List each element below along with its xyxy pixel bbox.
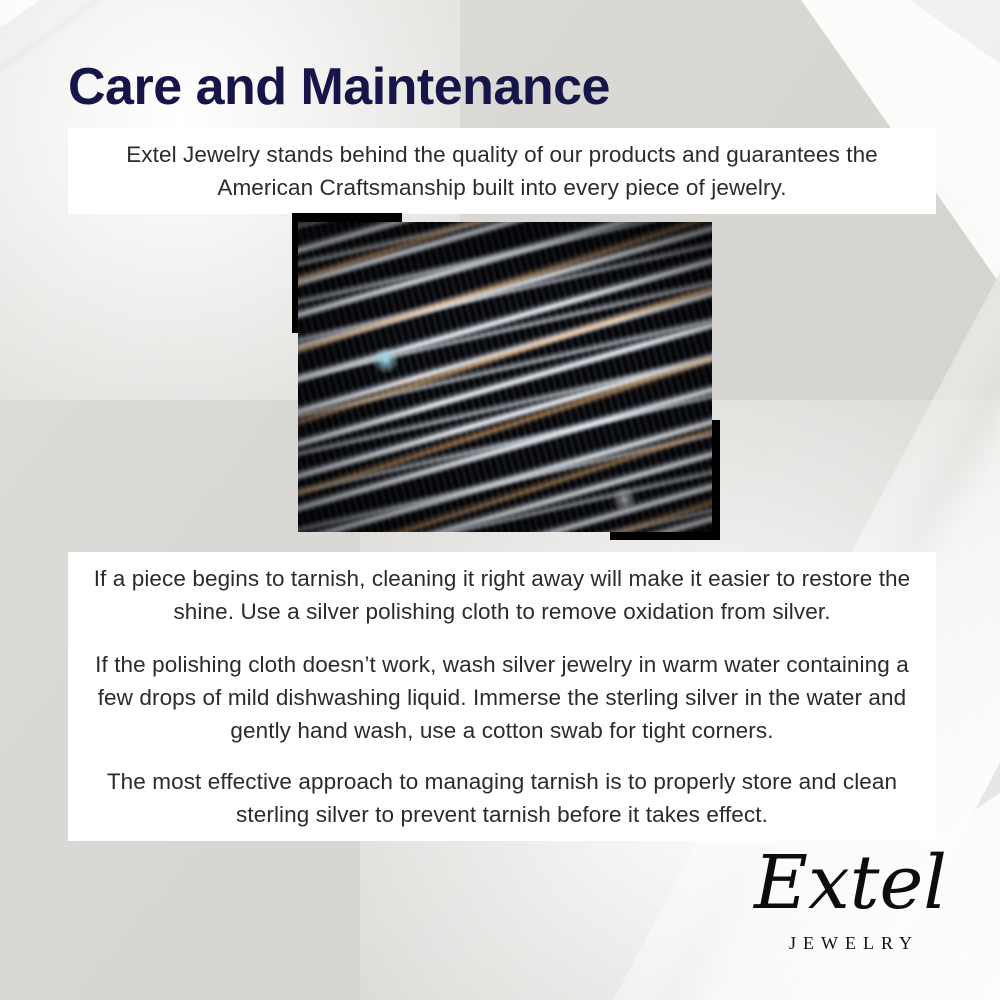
brand-logo: Extel JEWELRY: [748, 845, 953, 960]
body-paragraph-1: If a piece begins to tarnish, cleaning i…: [68, 552, 936, 638]
jewelry-photo-frame: [292, 213, 720, 540]
brand-logo-wordmark: JEWELRY: [748, 933, 953, 954]
body-paragraph-2: If the polishing cloth doesn’t work, was…: [68, 638, 936, 757]
poster-canvas: Care and Maintenance Extel Jewelry stand…: [0, 0, 1000, 1000]
poster-content: Care and Maintenance Extel Jewelry stand…: [0, 0, 1000, 1000]
body-paragraph-3: The most effective approach to managing …: [68, 755, 936, 841]
brand-logo-script: Extel: [748, 841, 953, 926]
page-title: Care and Maintenance: [68, 57, 610, 117]
photo-vignette: [298, 222, 712, 532]
subtitle-text-block: Extel Jewelry stands behind the quality …: [68, 128, 936, 214]
jewelry-chains-photo: [298, 222, 712, 532]
